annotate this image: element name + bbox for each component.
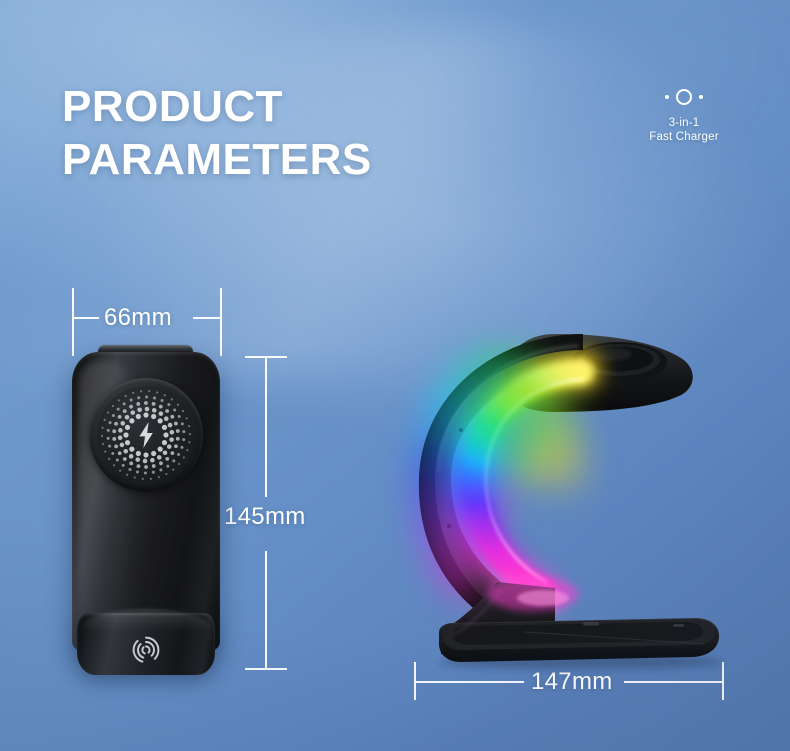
- dim-width-line-left: [72, 317, 99, 319]
- brand-name-line1: 3-in-1: [614, 116, 754, 130]
- brand-logo: 3-in-1 Fast Charger: [614, 84, 754, 144]
- logo-dot-left: [665, 95, 669, 99]
- page-title-line1: PRODUCT: [62, 82, 283, 131]
- charger-side-view: [405, 332, 725, 668]
- rgb-base-spill: [487, 577, 579, 611]
- dim-width-label: 66mm: [104, 304, 172, 332]
- front-base-highlight: [79, 609, 213, 631]
- dim-height-line-upper: [265, 356, 267, 497]
- charger-side-illustration: [405, 332, 725, 668]
- fingerprint-icon: [129, 633, 163, 667]
- dim-height-line-lower: [265, 551, 267, 669]
- page-title: PRODUCT PARAMETERS: [62, 80, 372, 186]
- circle-ring-with-dots-icon: [614, 84, 754, 110]
- logo-ring: [676, 89, 692, 105]
- brand-name: 3-in-1 Fast Charger: [614, 116, 754, 144]
- dim-width-line-right: [193, 317, 221, 319]
- product-parameters-banner: PRODUCT PARAMETERS 3-in-1 Fast Charger 6…: [0, 0, 790, 751]
- front-base-plate: [77, 613, 215, 675]
- dim-depth-line-left: [414, 681, 524, 683]
- dim-depth-label: 147mm: [531, 668, 613, 696]
- wireless-charging-pad: [89, 378, 203, 492]
- lightning-bolt-icon: [136, 422, 156, 448]
- brand-name-line2: Fast Charger: [614, 130, 754, 144]
- dim-width-tick-right: [220, 288, 222, 356]
- dim-height-label: 145mm: [224, 503, 306, 531]
- dim-depth-line-right: [624, 681, 723, 683]
- logo-dot-right: [699, 95, 703, 99]
- charger-front-view: [72, 345, 220, 683]
- page-title-line2: PARAMETERS: [62, 133, 372, 186]
